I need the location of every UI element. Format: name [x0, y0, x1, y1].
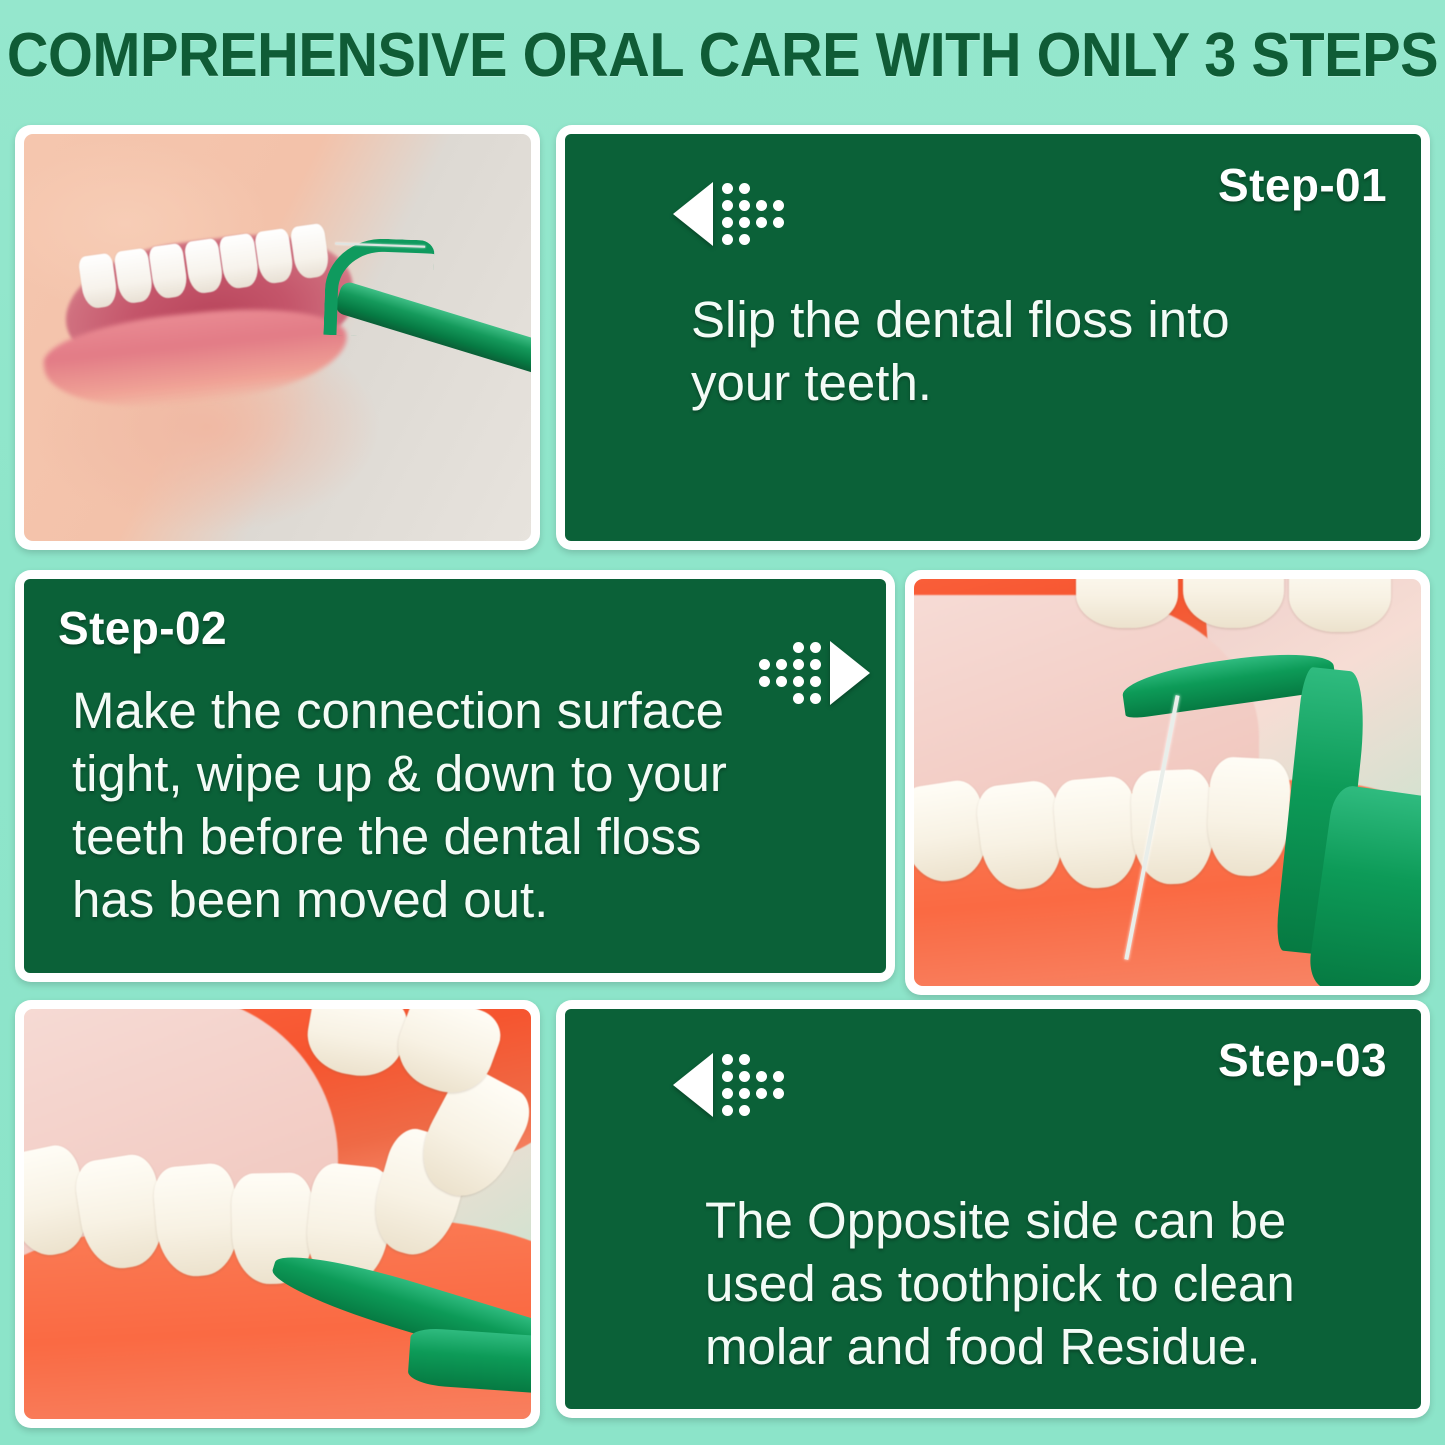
page-title: COMPREHENSIVE ORAL CARE WITH ONLY 3 STEP… — [7, 25, 1438, 87]
step-2-label: Step-02 — [58, 605, 227, 651]
photo-mouth-flossing — [24, 134, 531, 541]
infographic-page: COMPREHENSIVE ORAL CARE WITH ONLY 3 STEP… — [0, 0, 1445, 1445]
page-header: COMPREHENSIVE ORAL CARE WITH ONLY 3 STEP… — [0, 0, 1445, 112]
step-3-label: Step-03 — [1218, 1037, 1387, 1083]
triangle-left-icon — [673, 182, 713, 246]
floss-pick-tool — [295, 220, 531, 430]
arrow-left-dotted-icon — [673, 182, 784, 246]
triangle-left-icon — [673, 1053, 713, 1117]
arrow-left-dotted-icon — [673, 1053, 784, 1117]
dot-matrix-icon — [722, 183, 784, 245]
step-1-text-panel: Step-01 Slip the dental floss into your … — [556, 125, 1430, 550]
dot-matrix-icon — [722, 1054, 784, 1116]
step-3-text-panel: Step-03 The Opposite side can be used as… — [556, 1000, 1430, 1418]
step-2-text: Make the connection surface tight, wipe … — [72, 679, 787, 931]
step-1-label: Step-01 — [1218, 162, 1387, 208]
triangle-right-icon — [830, 641, 870, 705]
step-1-text: Slip the dental floss into your teeth. — [691, 288, 1331, 414]
step-3-photo-panel — [15, 1000, 540, 1428]
step-3-text: The Opposite side can be used as toothpi… — [705, 1189, 1365, 1378]
step-2-text-panel: Step-02 Make the connection surface tigh… — [15, 570, 895, 982]
photo-dental-model-toothpick — [24, 1009, 531, 1419]
step-1-photo-panel — [15, 125, 540, 550]
step-2-photo-panel — [905, 570, 1430, 995]
photo-dental-model-flossing — [914, 579, 1421, 986]
